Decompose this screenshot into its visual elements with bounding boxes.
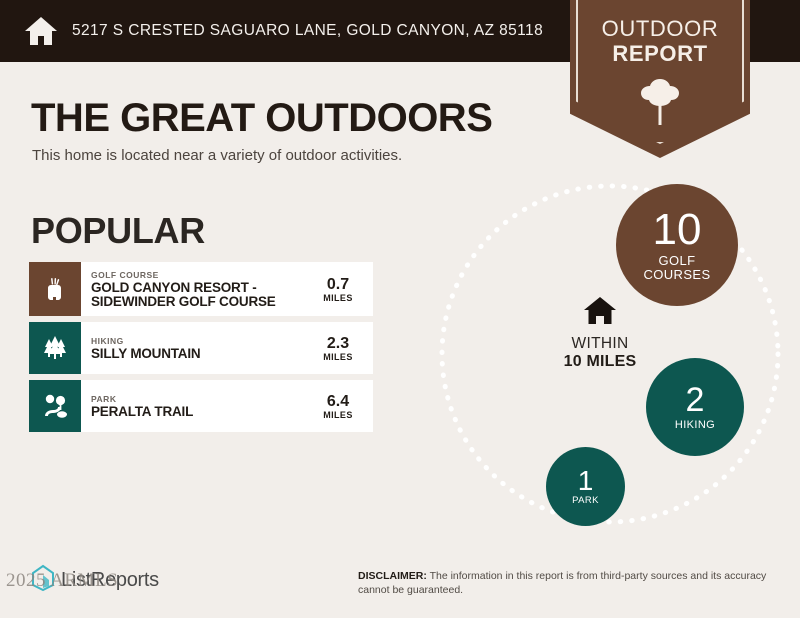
list-item-distance: 0.7 MILES bbox=[311, 262, 373, 316]
page-title: THE GREAT OUTDOORS bbox=[31, 96, 492, 141]
within-radius-diagram: 10 GOLF COURSES 2 HIKING 1 PARK WITHIN 1… bbox=[430, 178, 800, 530]
list-item-name: SILLY MOUNTAIN bbox=[91, 347, 311, 361]
bubble-label: PARK bbox=[572, 496, 599, 506]
list-item-text: HIKING SILLY MOUNTAIN bbox=[81, 322, 311, 374]
golf-bag-icon bbox=[29, 262, 81, 316]
park-icon bbox=[29, 380, 81, 432]
page-subtitle: This home is located near a variety of o… bbox=[32, 147, 402, 164]
mls-watermark: 2025 ARMLS bbox=[6, 570, 118, 592]
header-address-block: 5217 S CRESTED SAGUARO LANE, GOLD CANYON… bbox=[0, 0, 568, 62]
property-address: 5217 S CRESTED SAGUARO LANE, GOLD CANYON… bbox=[72, 22, 543, 40]
list-item-distance: 2.3 MILES bbox=[311, 322, 373, 374]
distance-value: 6.4 bbox=[327, 393, 349, 410]
bubble-hiking[interactable]: 2 HIKING bbox=[646, 358, 744, 456]
distance-unit: MILES bbox=[323, 293, 353, 303]
list-item-text: PARK PERALTA TRAIL bbox=[81, 380, 311, 432]
list-item-name: PERALTA TRAIL bbox=[91, 405, 311, 419]
bubble-label-line1: GOLF bbox=[643, 254, 710, 268]
within-label-line1: WITHIN bbox=[535, 335, 665, 353]
distance-value: 2.3 bbox=[327, 335, 349, 352]
bubble-golf-courses[interactable]: 10 GOLF COURSES bbox=[616, 184, 738, 306]
distance-unit: MILES bbox=[323, 352, 353, 362]
tree-icon bbox=[632, 75, 688, 127]
bubble-count: 10 bbox=[653, 208, 702, 252]
section-heading-popular: POPULAR bbox=[31, 210, 205, 252]
list-item-category: HIKING bbox=[91, 336, 311, 347]
disclaimer-label: DISCLAIMER: bbox=[358, 570, 427, 582]
list-item-text: GOLF COURSE GOLD CANYON RESORT - SIDEWIN… bbox=[81, 262, 311, 316]
distance-unit: MILES bbox=[323, 410, 353, 420]
diagram-center-block: WITHIN 10 MILES bbox=[535, 296, 665, 371]
popular-list: GOLF COURSE GOLD CANYON RESORT - SIDEWIN… bbox=[29, 262, 373, 438]
bubble-label: HIKING bbox=[675, 419, 715, 431]
trees-icon bbox=[29, 322, 81, 374]
home-icon bbox=[24, 15, 58, 47]
home-icon bbox=[583, 313, 617, 330]
list-item-category: PARK bbox=[91, 394, 311, 405]
list-item-distance: 6.4 MILES bbox=[311, 380, 373, 432]
bubble-label-line2: COURSES bbox=[643, 268, 710, 282]
list-item-category: GOLF COURSE bbox=[91, 270, 311, 281]
within-label-line2: 10 MILES bbox=[535, 353, 665, 371]
bubble-count: 1 bbox=[578, 467, 594, 495]
bubble-count: 2 bbox=[686, 383, 705, 417]
bubble-park[interactable]: 1 PARK bbox=[546, 447, 625, 526]
badge-title-line1: OUTDOOR bbox=[570, 16, 750, 41]
distance-value: 0.7 bbox=[327, 276, 349, 293]
list-item[interactable]: PARK PERALTA TRAIL 6.4 MILES bbox=[29, 380, 373, 432]
outdoor-report-badge: OUTDOOR REPORT bbox=[570, 0, 750, 158]
bubble-label: GOLF COURSES bbox=[643, 254, 710, 283]
list-item-name: GOLD CANYON RESORT - SIDEWINDER GOLF COU… bbox=[91, 281, 311, 309]
list-item[interactable]: HIKING SILLY MOUNTAIN 2.3 MILES bbox=[29, 322, 373, 374]
badge-title-line2: REPORT bbox=[570, 41, 750, 66]
list-item[interactable]: GOLF COURSE GOLD CANYON RESORT - SIDEWIN… bbox=[29, 262, 373, 316]
badge-title: OUTDOOR REPORT bbox=[570, 16, 750, 66]
disclaimer: DISCLAIMER: The information in this repo… bbox=[358, 570, 778, 597]
